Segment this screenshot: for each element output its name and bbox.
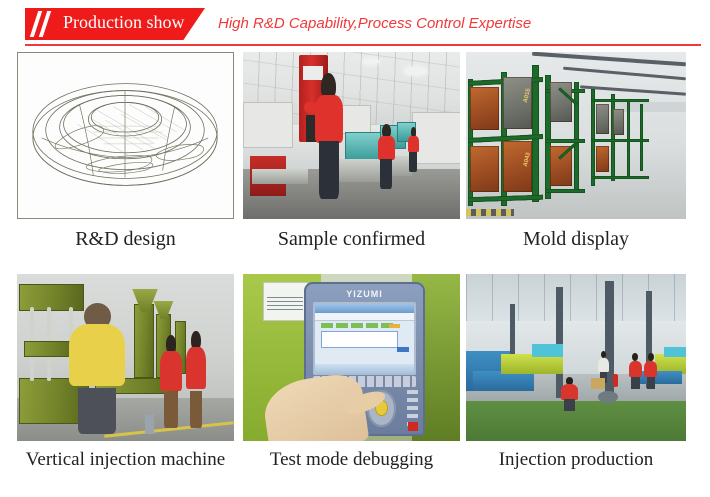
cad-wireframe-svg	[18, 53, 233, 218]
thumbnail-vertical-injection-machine[interactable]	[17, 274, 234, 441]
hmi-touchscreen[interactable]	[313, 302, 415, 375]
yizumi-control-panel-touchscreen-image: YIZUMI	[243, 274, 460, 441]
double-slash-icon	[33, 11, 59, 37]
cell-caption: Test mode debugging	[243, 450, 460, 471]
cell-caption: Sample confirmed	[243, 228, 460, 250]
thumbnail-test-mode-debugging[interactable]: YIZUMI	[243, 274, 460, 441]
gallery-cell-sample-confirmed[interactable]: Sample confirmed	[243, 52, 460, 250]
thumbnail-mold-display[interactable]: A015 A043	[466, 52, 686, 219]
banner-title: Production show	[63, 12, 185, 33]
cad-wireframe-disc-drawing-image	[18, 53, 233, 218]
cnc-workshop-worker-red-shirt-image	[243, 52, 460, 219]
cell-caption: Injection production	[466, 450, 686, 471]
gallery-cell-injection-production[interactable]: Injection production	[466, 274, 686, 471]
gallery-cell-test-mode-debugging[interactable]: YIZUMI	[243, 274, 460, 471]
production-gallery: R&D design	[0, 52, 710, 496]
cell-caption: Mold display	[466, 228, 686, 250]
emergency-stop-button[interactable]	[408, 422, 418, 431]
gallery-cell-rd-design[interactable]: R&D design	[17, 52, 234, 250]
injection-production-factory-floor-image	[466, 274, 686, 441]
gallery-cell-mold-display[interactable]: A015 A043	[466, 52, 686, 250]
cell-caption: R&D design	[17, 228, 234, 250]
thumbnail-sample-confirmed[interactable]	[243, 52, 460, 219]
thumbnail-injection-production[interactable]	[466, 274, 686, 441]
green-mold-storage-racks-image: A015 A043	[466, 52, 686, 219]
gallery-row: Vertical injection machine YIZUMI	[0, 274, 710, 496]
gallery-cell-vertical-injection-machine[interactable]: Vertical injection machine	[17, 274, 234, 471]
yizumi-brand-label: YIZUMI	[346, 289, 383, 299]
page-header: Production show High R&D Capability,Proc…	[0, 0, 710, 52]
header-tagline: High R&D Capability,Process Control Expe…	[218, 15, 531, 32]
gallery-row: R&D design	[0, 52, 710, 274]
green-vertical-injection-machines-image	[17, 274, 234, 441]
header-divider	[25, 44, 701, 46]
cell-caption: Vertical injection machine	[17, 450, 234, 471]
thumbnail-rd-design[interactable]	[17, 52, 234, 219]
